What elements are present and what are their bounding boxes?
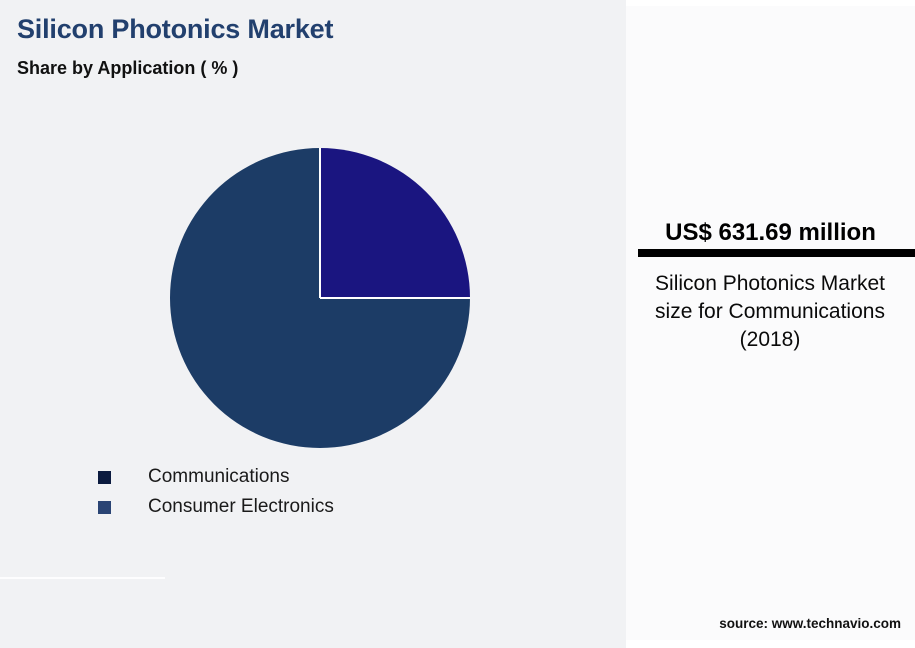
pie-chart-svg [170,148,470,448]
legend-swatch-icon-consumer-electronics [98,501,111,514]
legend-label-consumer-electronics: Consumer Electronics [148,496,334,518]
legend-item-consumer-electronics[interactable]: Consumer Electronics [98,492,334,522]
chart-panel: Silicon Photonics Market Share by Applic… [0,0,626,648]
legend-swatch-icon-communications [98,471,111,484]
chart-infographic: Silicon Photonics Market Share by Applic… [0,0,915,648]
kpi-divider [638,249,915,257]
bottom-divider [0,577,165,579]
kpi-caption: Silicon Photonics Market size for Commun… [640,270,900,354]
kpi-value: US$ 631.69 million [638,219,903,247]
legend-label-communications: Communications [148,466,290,488]
legend: Communications Consumer Electronics [98,462,334,522]
pie-chart [170,148,470,448]
page-title: Silicon Photonics Market [17,14,333,45]
legend-item-communications[interactable]: Communications [98,462,334,492]
source-note: source: www.technavio.com [626,616,901,631]
chart-subtitle: Share by Application ( % ) [17,58,238,79]
pie-slice-consumer-electronics[interactable] [320,148,470,298]
kpi-panel: US$ 631.69 million Silicon Photonics Mar… [626,6,915,640]
